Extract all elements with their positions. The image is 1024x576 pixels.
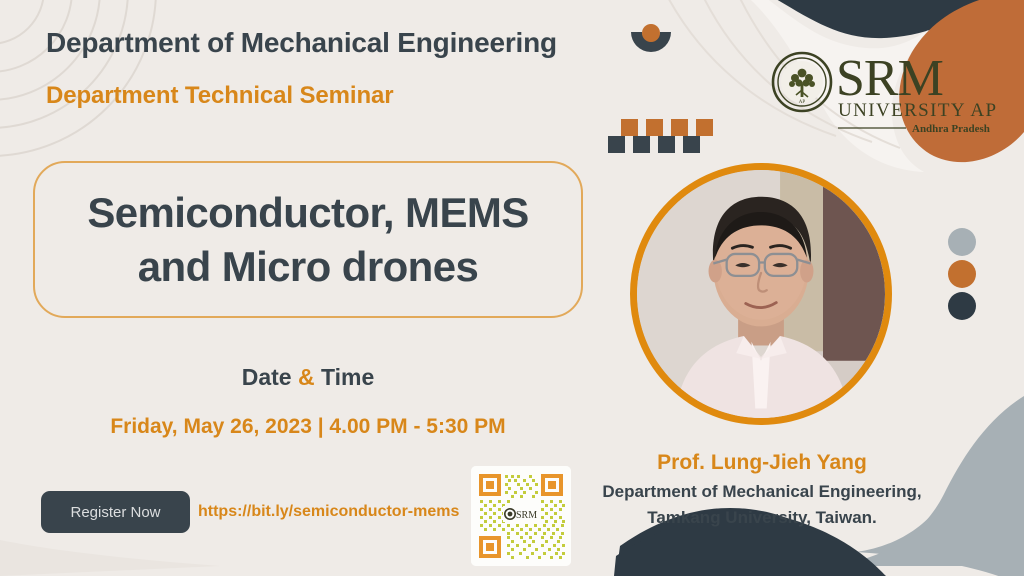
qr-code-graphic: SRM [471, 466, 571, 566]
register-now-button[interactable]: Register Now [41, 491, 190, 533]
dot-gray-icon [948, 228, 976, 256]
deco-square-orange [696, 119, 713, 136]
event-type-heading: Department Technical Seminar [46, 82, 394, 110]
date-time-heading: Date & Time [33, 364, 583, 391]
deco-square-dark [683, 136, 700, 153]
squares-row-orange [621, 119, 713, 136]
seminar-title-line-1: Semiconductor, MEMS [87, 186, 528, 240]
speaker-affiliation-line-2: Tamkang University, Taiwan. [570, 508, 954, 528]
blob-navy-top-right [742, 0, 1024, 38]
speaker-portrait [630, 163, 892, 425]
srm-acronym: SRM [836, 50, 943, 107]
blob-gray-bottom-right-fill [830, 396, 1024, 566]
srm-emblem-icon: AP [773, 53, 831, 111]
dot-navy-icon [948, 292, 976, 320]
edge-shade-bottom-left [0, 540, 220, 576]
speaker-affiliation-line-1: Department of Mechanical Engineering, [570, 482, 954, 502]
deco-square-dark [608, 136, 625, 153]
department-heading: Department of Mechanical Engineering [46, 27, 557, 59]
speaker-name: Prof. Lung-Jieh Yang [570, 451, 954, 475]
qr-logo-text: SRM [516, 510, 537, 521]
srm-subtitle: UNIVERSITY AP [838, 100, 997, 121]
ampersand-glyph: & [298, 364, 315, 390]
speaker-photo-graphic [637, 170, 885, 418]
date-time-heading-part1: Date [242, 364, 298, 390]
date-time-heading-part2: Time [315, 364, 375, 390]
seminar-title-box: Semiconductor, MEMS and Micro drones [33, 161, 583, 318]
vertical-dots-decoration [947, 228, 977, 320]
seminar-poster: Department of Mechanical Engineering Dep… [0, 0, 1024, 576]
dot-orange-icon [948, 260, 976, 288]
bowl-dot-decoration [628, 20, 674, 62]
deco-square-orange [671, 119, 688, 136]
deco-square-dark [658, 136, 675, 153]
deco-square-dark [633, 136, 650, 153]
srm-university-logo: AP SRM UNIVERSITY AP Andhra Pradesh [766, 40, 1016, 135]
deco-square-orange [621, 119, 638, 136]
orange-dot-icon [642, 24, 660, 42]
qr-center-logo: SRM [503, 506, 541, 522]
corner-arcs-top-left [0, 0, 156, 156]
date-time-value: Friday, May 26, 2023 | 4.00 PM - 5:30 PM [33, 415, 583, 439]
srm-logo-graphic: AP SRM UNIVERSITY AP Andhra Pradesh [766, 40, 1016, 135]
srm-region: Andhra Pradesh [912, 123, 990, 135]
squares-row-dark [608, 136, 700, 153]
deco-square-orange [646, 119, 663, 136]
seminar-title-line-2: and Micro drones [138, 240, 478, 294]
registration-url-link[interactable]: https://bit.ly/semiconductor-mems [198, 503, 459, 521]
registration-qr-code[interactable]: SRM [471, 466, 571, 566]
emblem-sub-text: AP [799, 100, 806, 105]
